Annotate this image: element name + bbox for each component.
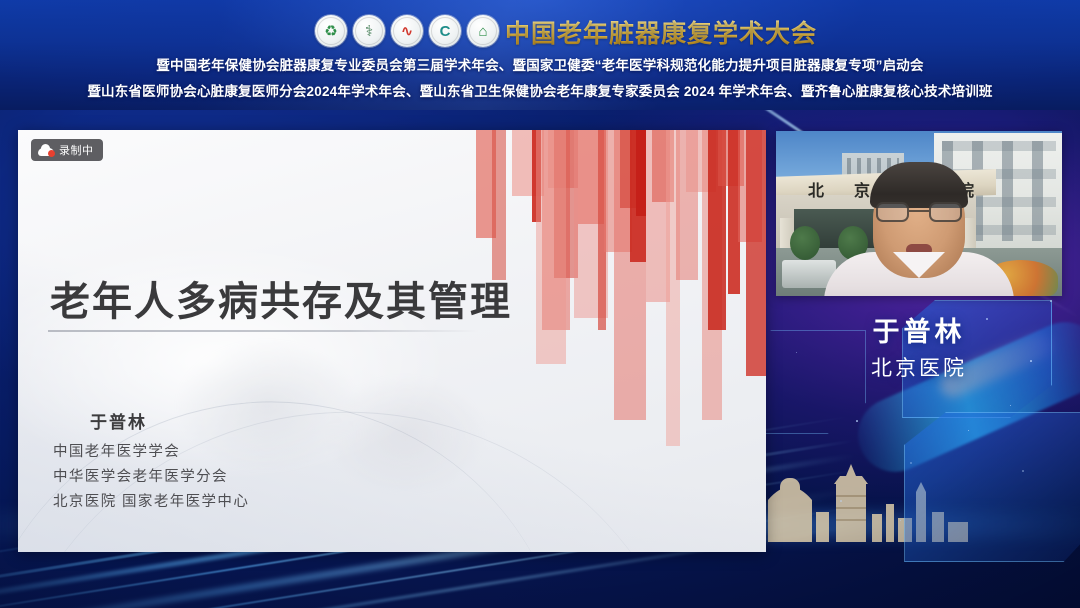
cloud-record-icon [38,145,54,156]
recording-label: 录制中 [59,142,94,158]
glasses-icon [876,202,962,224]
header-subtitle-line-2: 暨山东省医师协会心脏康复医师分会2024年学术年会、暨山东省卫生保健协会老年康复… [0,80,1080,100]
nchmra-logo: ⚕ [353,15,385,47]
speaker-collar [893,252,945,278]
stage: ♻⚕∿C⌂ 中国老年脏器康复学术大会 暨中国老年保健协会脏器康复专业委员会第三届… [0,0,1080,608]
china-geriatric-health-association-logo: ♻ [315,15,347,47]
video-sign-char-2: 京 [854,177,870,201]
slide-title-divider [48,330,478,332]
recording-badge: 录制中 [31,139,103,161]
decor-bar [636,130,646,216]
slide-affiliation-1: 中国老年医学学会 [53,440,249,465]
decor-bar [746,130,766,376]
conference-title: 中国老年脏器康复学术大会 [505,14,817,50]
medical-institute-logo: ⌂ [467,15,499,47]
speaker-org-caption: 北京医院 [776,352,1062,382]
speaker-name-caption: 于普林 [776,310,1062,349]
organization-logos: ♻⚕∿C⌂ [315,15,499,47]
rehabilitation-c-logo: C [429,15,461,47]
decor-bar [492,130,506,280]
slide-presenter-name: 于普林 [90,408,147,433]
video-bg-tree-1 [790,226,820,260]
speaker-video-feed[interactable]: 北 京 院 [776,131,1062,296]
header-subtitle-line-1: 暨中国老年保健协会脏器康复专业委员会第三届学术年会、暨国家卫健委“老年医学科规范… [0,54,1080,74]
slide-affiliation-2: 中华医学会老年医学分会 [53,465,249,490]
slide-title: 老年人多病共存及其管理 [50,269,512,327]
slide-decorative-bars [470,130,766,552]
cardiac-ecg-society-logo: ∿ [391,15,423,47]
video-sign-char-1: 北 [808,177,824,201]
slide-affiliation-list: 中国老年医学学会中华医学会老年医学分会北京医院 国家老年医学中心 [53,440,249,515]
slide-affiliation-3: 北京医院 国家老年医学中心 [53,490,249,515]
presentation-slide[interactable]: 100 录制中 老年人多病共存及其管理 于普林 中国老年医学学会中华医学会老年医… [18,130,766,552]
decor-bar [536,130,566,364]
